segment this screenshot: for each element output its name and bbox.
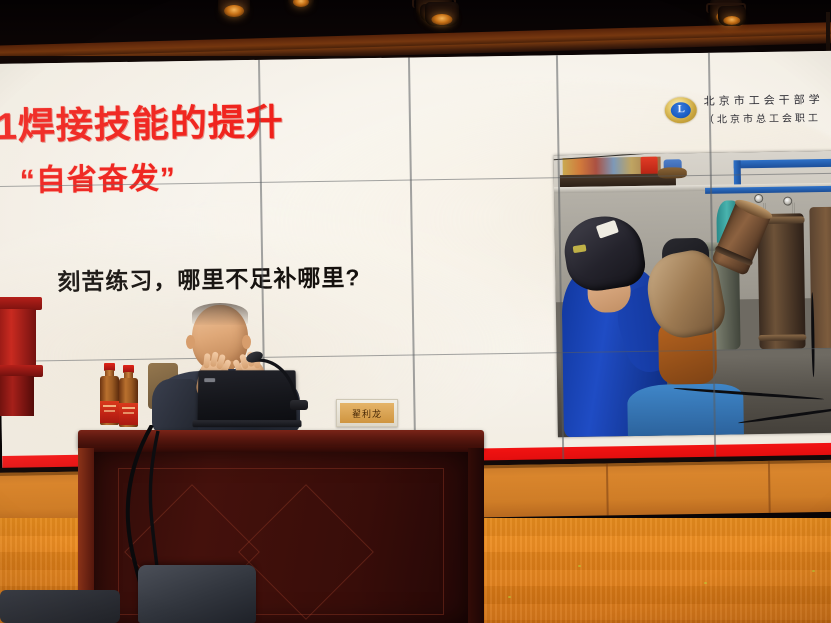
foreground-chair-2 — [0, 590, 120, 623]
organization-name-lines: 北京市工会干部学 （北京市总工会职工 — [704, 91, 825, 126]
slide-photo-welder — [554, 151, 831, 438]
organization-emblem-icon: L — [665, 96, 697, 122]
laptop-base — [192, 420, 301, 427]
slide-title: .1焊接技能的提升 — [0, 91, 284, 150]
emblem-letter: L — [671, 102, 691, 118]
stage-spotlight — [718, 6, 746, 26]
red-decorative-pillar — [0, 297, 38, 413]
stage-spotlight — [218, 0, 250, 18]
organization-header: L 北京市工会干部学 （北京市总工会职工 — [665, 91, 824, 126]
laptop-logo-icon — [204, 378, 215, 382]
slide-body-text: 刻苦练习，哪里不足补哪里? — [57, 258, 361, 297]
stage-spotlight — [425, 2, 459, 26]
presenter-ear-left — [186, 335, 195, 349]
slide-subtitle: “自省奋发” — [19, 153, 176, 199]
presenter-ear-right — [242, 335, 251, 349]
organization-line-2: （北京市总工会职工 — [704, 109, 824, 126]
presenter-hair — [192, 303, 248, 325]
conference-hall-scene: L 北京市工会干部学 （北京市总工会职工 .1焊接技能的提升 “自省奋发” 刻苦… — [0, 0, 831, 623]
gooseneck-microphone — [250, 355, 308, 403]
organization-line-1: 北京市工会干部学 — [704, 91, 824, 109]
podium-side-right — [468, 448, 484, 623]
nameplate-text: 翟利龙 — [340, 403, 394, 423]
presenter-nameplate: 翟利龙 — [336, 399, 398, 427]
microphone-base — [290, 400, 308, 410]
foreground-chair — [138, 565, 256, 623]
stage-spotlight — [288, 0, 314, 8]
beverage-bottle — [119, 365, 138, 427]
beverage-bottle — [100, 363, 119, 425]
